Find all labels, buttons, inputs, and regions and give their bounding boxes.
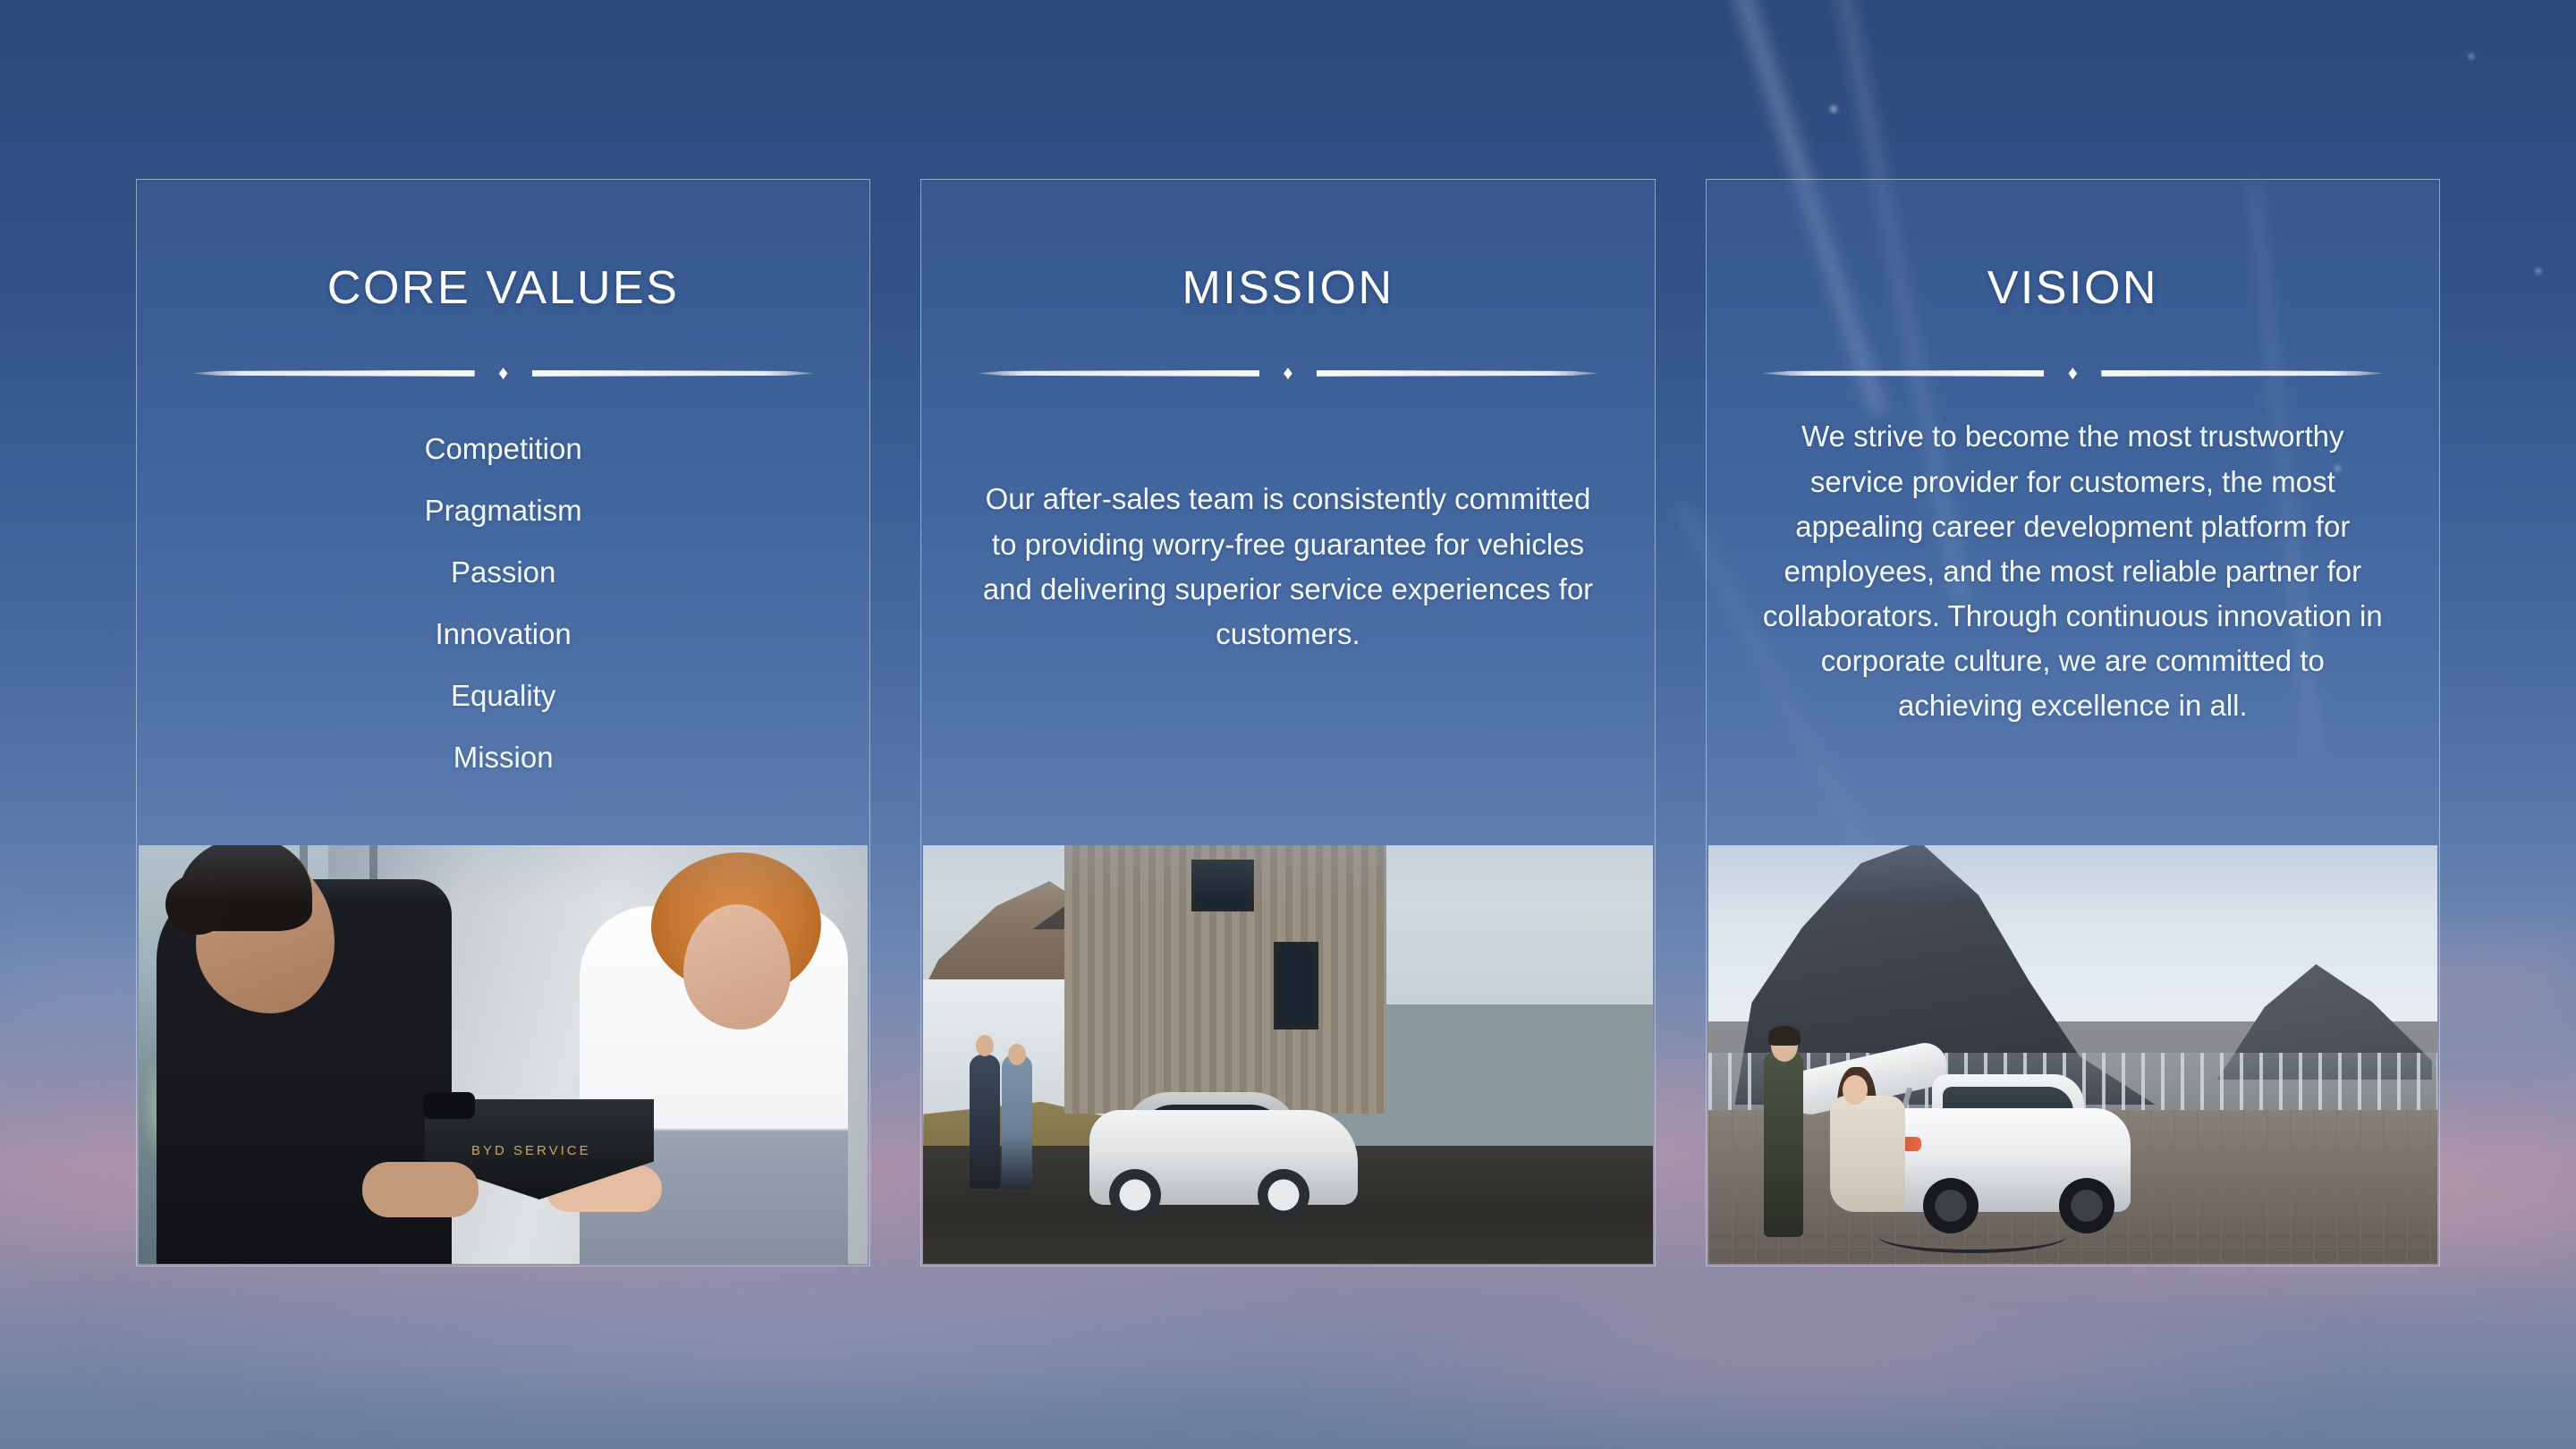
slide-stage: CORE VALUES ♦ Competition Pragmatism Pas… (0, 0, 2576, 1449)
page-title: CORE VALUES (137, 263, 869, 314)
photo-person-woman-head (1843, 1075, 1868, 1105)
divider-line-right-icon (1317, 370, 1601, 377)
card-photo-core-values: BYD SERVICE (139, 845, 868, 1264)
diamond-ornament-icon: ♦ (1259, 363, 1317, 383)
vision-paragraph: We strive to become the most trustworthy… (1755, 414, 2391, 728)
card-mission[interactable]: MISSION ♦ Our after-sales team is consis… (920, 179, 1655, 1267)
card-vision[interactable]: VISION ♦ We strive to become the most tr… (1706, 179, 2440, 1267)
photo-cabin-door-window (1274, 942, 1318, 1030)
card-body: Our after-sales team is consistently com… (921, 386, 1654, 845)
photo-charging-cable (1878, 1219, 2066, 1253)
photo-car-wheel (1258, 1169, 1309, 1221)
diamond-ornament-icon: ♦ (475, 363, 532, 383)
sky-speck (2536, 268, 2541, 274)
photo-person-man-hair (1768, 1026, 1801, 1046)
photo-customer-arm (362, 1162, 479, 1217)
photo-person-customer-bun (165, 874, 230, 935)
list-item: Mission (425, 742, 582, 772)
divider-line-left-icon (191, 370, 475, 377)
ornamental-divider: ♦ (975, 360, 1601, 386)
photo-byd-service-logo: BYD SERVICE (471, 1143, 591, 1158)
card-photo-mission (923, 845, 1652, 1264)
list-item: Competition (425, 434, 582, 463)
divider-line-right-icon (532, 370, 817, 377)
photo-cabin-window (1191, 860, 1254, 911)
card-header: VISION ♦ (1707, 180, 2439, 386)
divider-line-left-icon (975, 370, 1259, 377)
photo-person-man (1764, 1049, 1803, 1237)
photo-person-woman (1002, 1055, 1032, 1189)
list-item: Pragmatism (425, 496, 582, 525)
card-photo-vision (1708, 845, 2437, 1264)
page-title: MISSION (921, 263, 1654, 314)
ornamental-divider: ♦ (191, 360, 817, 386)
page-title: VISION (1707, 263, 2439, 314)
list-item: Innovation (425, 619, 582, 648)
core-values-list: Competition Pragmatism Passion Innovatio… (425, 434, 582, 804)
divider-line-right-icon (2101, 370, 2385, 377)
card-header: CORE VALUES ♦ (137, 180, 869, 386)
card-core-values[interactable]: CORE VALUES ♦ Competition Pragmatism Pas… (136, 179, 870, 1267)
photo-person-woman (1830, 1096, 1905, 1212)
card-header: MISSION ♦ (921, 180, 1654, 386)
photo-car-wheel (2059, 1178, 2114, 1233)
photo-car-key (423, 1092, 475, 1119)
ornamental-divider: ♦ (1759, 360, 2385, 386)
mission-paragraph: Our after-sales team is consistently com… (970, 477, 1606, 657)
diamond-ornament-icon: ♦ (2044, 363, 2101, 383)
card-row: CORE VALUES ♦ Competition Pragmatism Pas… (136, 179, 2440, 1267)
cloud-band-lower (0, 1234, 2576, 1449)
photo-car-wheel (1109, 1169, 1161, 1221)
sky-speck (2469, 54, 2474, 59)
list-item: Passion (425, 557, 582, 587)
list-item: Equality (425, 681, 582, 710)
card-body: We strive to become the most trustworthy… (1707, 386, 2439, 845)
photo-person-man (970, 1055, 1000, 1189)
sky-speck (1830, 106, 1837, 113)
divider-line-left-icon (1759, 370, 2044, 377)
card-body: Competition Pragmatism Passion Innovatio… (137, 386, 869, 845)
